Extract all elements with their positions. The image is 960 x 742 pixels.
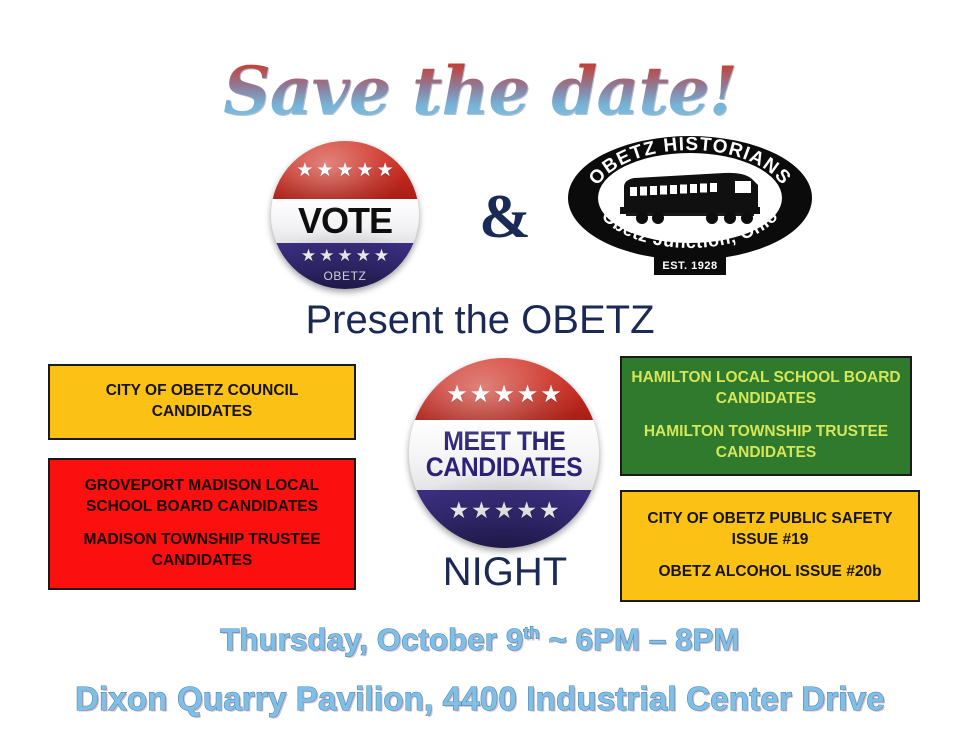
star-icon: ★ [319, 247, 334, 264]
star-icon: ★ [374, 247, 389, 264]
star-icon: ★ [337, 247, 352, 264]
event-time-suffix: ~ 6PM – 8PM [540, 622, 740, 657]
star-icon: ★ [493, 383, 515, 407]
box-text-block: OBETZ ALCOHOL ISSUE #20b [658, 562, 881, 583]
box-text-block: HAMILTON LOCAL SCHOOL BOARD CANDIDATES [630, 368, 902, 410]
event-date-prefix: Thursday, October 9 [220, 622, 523, 657]
vote-badge-stars-top: ★ ★ ★ ★ ★ [271, 161, 419, 180]
meet-badge-line2: CANDIDATES [426, 455, 582, 481]
star-icon: ★ [316, 161, 333, 180]
meet-badge-stars-top: ★ ★ ★ ★ ★ [409, 383, 599, 407]
star-icon: ★ [539, 499, 560, 522]
star-icon: ★ [540, 383, 562, 407]
star-icon: ★ [448, 499, 469, 522]
flyer-canvas: Save the date! ★ ★ ★ ★ ★ VOTE ★ ★ ★ ★ ★ … [0, 0, 960, 742]
star-icon: ★ [516, 499, 537, 522]
star-icon: ★ [356, 247, 371, 264]
box-hamilton-local: HAMILTON LOCAL SCHOOL BOARD CANDIDATES H… [620, 356, 912, 476]
box-text-block: MADISON TOWNSHIP TRUSTEE CANDIDATES [58, 530, 346, 572]
vote-badge-word: VOTE [298, 203, 392, 239]
event-date-time: Thursday, October 9th ~ 6PM – 8PM [0, 622, 960, 658]
logo-curved-text: OBETZ HISTORIANS Obetz Junction, Ohio [568, 136, 812, 260]
ampersand-separator: & [465, 186, 545, 248]
star-icon: ★ [296, 161, 313, 180]
night-heading: NIGHT [360, 550, 650, 595]
star-icon: ★ [301, 247, 316, 264]
meet-badge-stars-bottom: ★ ★ ★ ★ ★ [409, 499, 599, 522]
box-text-block: CITY OF OBETZ PUBLIC SAFETY ISSUE #19 [630, 509, 910, 551]
vote-badge-stars-bottom: ★ ★ ★ ★ ★ [271, 247, 419, 264]
box-text-block: GROVEPORT MADISON LOCAL SCHOOL BOARD CAN… [58, 476, 346, 518]
star-icon: ★ [470, 383, 492, 407]
event-venue-address: Dixon Quarry Pavilion, 4400 Industrial C… [0, 680, 960, 718]
obetz-historians-logo: OBETZ HISTORIANS Obetz Junction, Ohio ES… [568, 136, 812, 260]
vote-pin-button: ★ ★ ★ ★ ★ VOTE ★ ★ ★ ★ ★ OBETZ [271, 141, 419, 289]
box-city-of-obetz-council: CITY OF OBETZ COUNCIL CANDIDATES [48, 364, 356, 440]
star-icon: ★ [357, 161, 374, 180]
logo-established-badge: EST. 1928 [654, 256, 726, 275]
logo-top-text: OBETZ HISTORIANS [585, 136, 795, 189]
star-icon: ★ [517, 383, 539, 407]
box-text-block: HAMILTON TOWNSHIP TRUSTEE CANDIDATES [630, 422, 902, 464]
page-title: Save the date! [0, 52, 960, 130]
logo-bottom-text: Obetz Junction, Ohio [598, 206, 782, 252]
event-date-ordinal: th [523, 624, 539, 643]
vote-badge-city-label: OBETZ [271, 269, 419, 283]
star-icon: ★ [494, 499, 515, 522]
meet-badge-white-band: MEET THE CANDIDATES [409, 420, 599, 490]
star-icon: ★ [336, 161, 353, 180]
vote-badge-white-band: VOTE [271, 199, 419, 243]
box-ballot-issues: CITY OF OBETZ PUBLIC SAFETY ISSUE #19 OB… [620, 490, 920, 602]
box-text-block: CITY OF OBETZ COUNCIL CANDIDATES [58, 381, 346, 423]
meet-the-candidates-pin-button: ★ ★ ★ ★ ★ MEET THE CANDIDATES ★ ★ ★ ★ ★ [409, 358, 599, 548]
star-icon: ★ [446, 383, 468, 407]
star-icon: ★ [377, 161, 394, 180]
star-icon: ★ [471, 499, 492, 522]
box-groveport-madison: GROVEPORT MADISON LOCAL SCHOOL BOARD CAN… [48, 458, 356, 590]
present-the-obetz-heading: Present the OBETZ [0, 298, 960, 343]
